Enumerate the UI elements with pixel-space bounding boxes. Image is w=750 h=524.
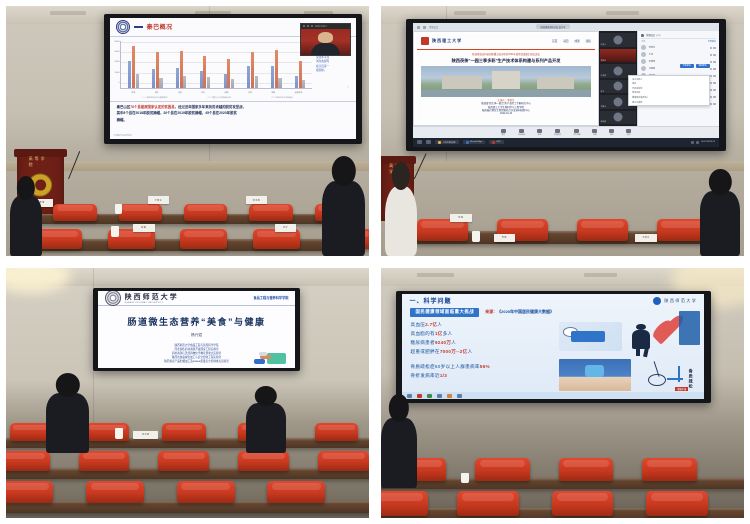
spacer xyxy=(410,357,553,361)
seat xyxy=(158,451,209,471)
slide-brand-row: 陕西理工大学 首页 项目 成果 团队 xyxy=(417,34,595,50)
presenter-name: 杨兴斌 xyxy=(104,328,290,344)
avatar xyxy=(613,97,622,106)
bar-2018年 xyxy=(247,66,250,88)
edge-icon[interactable] xyxy=(437,394,442,398)
slide-illustrations: 骨质疏松 健康中国 xyxy=(559,321,696,392)
participant-name: 王涛 xyxy=(649,53,653,56)
video-pip-window[interactable]: 视频会议窗口 xyxy=(300,23,351,57)
clock[interactable]: 14:26 2022/01/13 xyxy=(701,141,715,143)
meeting-client-window: 腾讯会议 陕西省茯茶研讨会 进行中 陕西理工大学 首 xyxy=(413,23,718,147)
record-icon xyxy=(592,129,597,133)
members-icon xyxy=(555,129,560,133)
bar-group xyxy=(271,42,281,88)
meeting-main: 陕西理工大学 首页 项目 成果 团队 陕西省农业科技创新重点攻关项 xyxy=(413,31,718,126)
x-tick-label: 陕西 xyxy=(225,91,229,94)
roster-buttons: 全体静音 解除静音 xyxy=(680,64,710,69)
toolbar-button-label: 共享屏幕 xyxy=(573,133,580,136)
attendee xyxy=(322,181,366,256)
participant-status-icons xyxy=(710,96,716,98)
slide-watermark: 中国秦巴山区研究院 xyxy=(114,134,132,137)
osteoporosis-label: 骨质疏松 xyxy=(688,369,694,389)
x-tick-label: 重庆 xyxy=(178,91,182,94)
x-group-captions: （一）秦巴区域人口与面积概况 （二）脱贫人口与贫困县分布 （三）区域经济与生态指… xyxy=(122,96,312,99)
building-shape xyxy=(537,77,574,89)
stat-label: 高血压 xyxy=(410,322,425,327)
seat xyxy=(642,458,696,481)
seat xyxy=(267,481,325,504)
bar-group xyxy=(200,42,210,88)
toolbar-button-label: 聊天 xyxy=(610,133,614,136)
collage-panel-bottom-right: 一、科学问题 陕西师范大学 国民健康领域面临重大挑战 来源：《2020年中国居民… xyxy=(375,262,750,524)
speaker-torso xyxy=(311,43,341,55)
participant-tile[interactable]: 赵老师 xyxy=(600,111,637,124)
mic-icon[interactable] xyxy=(710,89,712,91)
mic-icon[interactable] xyxy=(710,96,712,98)
bar-group xyxy=(152,42,162,88)
blood-pressure-illustration xyxy=(559,322,622,351)
app-title: 腾讯会议 xyxy=(429,25,438,29)
brand-lockup: 陕西师范大学 xyxy=(653,297,697,305)
participant-tile[interactable]: 李新生 xyxy=(600,49,637,62)
collage-panel-top-left: 秦巴概况 80000 xyxy=(0,0,375,262)
name-card-label: 刘洋 xyxy=(283,226,288,229)
block-blue xyxy=(254,359,265,364)
avatar xyxy=(641,45,646,50)
person-silhouette-icon xyxy=(631,324,653,357)
stat-unit: 人 xyxy=(451,340,456,345)
building-shape xyxy=(492,71,519,89)
stage-edge xyxy=(381,161,744,171)
slide-title-page: 陕西师范大学 SHAANXI NORMAL UNIVERSITY 食品工程与营养… xyxy=(98,291,296,368)
menu-icon[interactable] xyxy=(417,26,420,29)
participant-tile[interactable]: 主讲人 xyxy=(600,33,637,46)
stat-value: 7000万--2亿 xyxy=(440,349,468,354)
source-line: 来源：《2020年中国居民健康大数据》 xyxy=(485,309,554,315)
seat xyxy=(6,451,50,471)
attendee-head xyxy=(389,394,409,422)
building-shape xyxy=(442,76,483,88)
group-caption: （一）秦巴区域人口与面积概况 xyxy=(141,96,167,99)
participant-roster-panel: 管理成员（12） 全体 全部静音 李新生王涛张晓明刘建国赵红梅孙晓东周敏陈立会议… xyxy=(637,31,719,126)
name-card: 张志刚 xyxy=(133,431,158,440)
toolbar-button-共享屏幕[interactable]: 共享屏幕 xyxy=(573,129,580,137)
bar-2018年 xyxy=(200,71,203,87)
collage-panel-bottom-left: 陕西师范大学 SHAANXI NORMAL UNIVERSITY 食品工程与营养… xyxy=(0,262,375,524)
side-note: 级阶梯。 xyxy=(316,70,353,73)
chat-icon xyxy=(609,129,614,133)
camera-icon[interactable] xyxy=(713,47,715,49)
toolbar-button-label: 录制 xyxy=(593,133,597,136)
roster-action-label[interactable]: 全部静音 xyxy=(708,40,716,43)
side-note: 域生态屏障 xyxy=(316,61,353,64)
bar-2019年 xyxy=(251,52,254,88)
stat-line: 骨质疏松症60岁以上人群患病率56% xyxy=(410,363,553,370)
camera-icon[interactable] xyxy=(713,96,715,98)
name-card: 王晓东 xyxy=(635,234,657,243)
camera-icon[interactable] xyxy=(713,54,715,56)
os-taskbar[interactable] xyxy=(402,392,704,399)
bar-chart: 80000 60000 40000 20000 0 河南湖北重庆四川陕西甘肃湖南… xyxy=(110,37,316,101)
photo-collage: 秦巴概况 80000 xyxy=(0,0,750,524)
seat xyxy=(86,481,144,504)
meeting-status-chip: 陕西省茯茶研讨会 进行中 xyxy=(536,24,571,29)
photo-top-left: 秦巴概况 80000 xyxy=(6,6,369,256)
x-tick-label: 四川 xyxy=(201,91,205,94)
bar-2018年 xyxy=(295,76,298,87)
stat-value: 9240万 xyxy=(435,340,451,345)
university-seal-icon xyxy=(653,297,661,305)
seat xyxy=(475,458,529,481)
avatar xyxy=(613,82,622,91)
mic-icon[interactable] xyxy=(710,75,712,77)
led-screen: 秦巴概况 80000 xyxy=(104,14,362,144)
maximize-icon[interactable] xyxy=(307,25,309,27)
bar-group xyxy=(247,42,257,88)
cuff-shape xyxy=(571,331,605,342)
name-card-label: 张志刚 xyxy=(253,199,261,202)
paper-cup xyxy=(111,226,119,237)
photo-bottom-left: 陕西师范大学 SHAANXI NORMAL UNIVERSITY 食品工程与营养… xyxy=(6,268,369,518)
nav-item: 团队 xyxy=(586,39,591,43)
name-card-label: 赵敏 xyxy=(141,226,146,229)
attendee-head xyxy=(56,373,80,397)
name-card: 王晓东 xyxy=(148,196,170,204)
participant-tile-label: 主讲人 xyxy=(601,43,606,46)
name-card-label: 陈强 xyxy=(458,216,463,219)
footer-pre: 秦巴山区 xyxy=(117,105,131,109)
ceiling-panel xyxy=(584,273,617,277)
university-seal-icon xyxy=(116,20,130,34)
slide-science-question: 一、科学问题 陕西师范大学 国民健康领域面临重大挑战 来源：《2020年中国居民… xyxy=(402,294,704,399)
university-name: 陕西师范大学 SHAANXI NORMAL UNIVERSITY xyxy=(125,292,179,304)
name-card-label: 王晓东 xyxy=(155,199,163,202)
participant-name: 张晓明 xyxy=(649,60,655,63)
toolbar-button-开启视频[interactable]: 开启视频 xyxy=(518,129,525,137)
system-tray[interactable]: 14:26 2022/01/13 xyxy=(691,141,715,144)
context-menu[interactable]: 设为主持人改名开启等待室移出会议邀请参会成员加入观众与嘉宾 xyxy=(628,75,709,107)
participant-tile-label: 李新生 xyxy=(601,59,606,62)
department-name: 食品工程与营养科学学院 xyxy=(253,295,288,300)
avatar xyxy=(641,52,646,57)
y-tick-label: 20000 xyxy=(110,72,120,74)
footer-line: 摘帽。 xyxy=(117,118,349,123)
camera-icon[interactable] xyxy=(713,75,715,77)
attendee xyxy=(10,196,43,256)
attendee xyxy=(381,418,417,488)
attendee-head xyxy=(709,169,731,195)
stat-line: 超重或肥胖在7000万--2亿人 xyxy=(410,348,553,355)
name-card-label: 李建 xyxy=(502,236,507,239)
bar-group xyxy=(224,42,234,88)
slide-body: 高血压2.7亿人高血脂的有1亿多人糖尿病患者9240万人超重或肥胖在7000万-… xyxy=(402,319,704,392)
footer-line: 其中8个县在2018年脱贫摘帽，20个县在2019年脱贫摘帽，45个县在2020… xyxy=(117,111,349,116)
folder-icon[interactable] xyxy=(447,394,452,398)
avatar xyxy=(613,66,622,75)
participant-status-icons xyxy=(710,89,716,91)
security-icon xyxy=(537,129,542,133)
stats-list: 高血压2.7亿人高血脂的有1亿多人糖尿病患者9240万人超重或肥胖在7000万-… xyxy=(410,321,553,392)
slide-title: 秦巴概况 xyxy=(147,22,173,31)
bar-2018年 xyxy=(176,68,179,87)
folder-icon xyxy=(438,141,441,144)
seat xyxy=(162,423,206,441)
attendee-head xyxy=(254,386,276,406)
avatar xyxy=(641,66,646,71)
attendee xyxy=(46,393,90,453)
camera-icon[interactable] xyxy=(713,103,715,105)
stat-line: 糖尿病患者9240万人 xyxy=(410,339,553,346)
group-caption: （二）脱贫人口与贫困县分布 xyxy=(206,96,231,99)
speaker-head xyxy=(318,32,334,43)
bar-2019年 xyxy=(227,59,230,87)
bar-2019年 xyxy=(132,46,135,88)
slide-header: 陕西师范大学 SHAANXI NORMAL UNIVERSITY 食品工程与营养… xyxy=(98,291,296,307)
bar-2019年 xyxy=(203,56,206,88)
bar-2019年 xyxy=(180,51,183,88)
network-icon[interactable] xyxy=(691,141,694,144)
seat xyxy=(35,229,82,249)
nav-item: 成果 xyxy=(575,39,580,43)
attendee-head xyxy=(392,162,410,190)
participant-name: 刘建国 xyxy=(649,67,655,70)
title-rule xyxy=(134,26,143,28)
participant-status-icons xyxy=(710,68,716,70)
attendee xyxy=(246,403,286,453)
seat xyxy=(559,458,613,481)
seat xyxy=(646,491,708,516)
ceiling-panel xyxy=(454,11,487,15)
mic-icon[interactable] xyxy=(710,68,712,70)
name-card: 张志刚 xyxy=(246,196,268,204)
toolbar-button-管理成员[interactable]: 管理成员 xyxy=(554,129,561,137)
name-card: 刘洋 xyxy=(275,224,297,232)
bar-2020年 xyxy=(278,78,281,88)
x-tick-label: 湖北 xyxy=(155,91,159,94)
participant-status-icons xyxy=(710,82,716,84)
stat-label: 高血脂的有 xyxy=(410,331,434,336)
stat-unit: 人 xyxy=(437,322,442,327)
bar-2020年 xyxy=(136,74,139,88)
seat xyxy=(6,481,53,504)
participant-tile-label: 赵老师 xyxy=(601,120,606,123)
screen-content: 秦巴概况 80000 xyxy=(110,18,356,140)
meeting-toolbar[interactable]: 静音开启视频安全管理成员共享屏幕录制聊天更多 xyxy=(413,126,718,138)
os-taskbar[interactable]: 文件资源管理器 Microsoft Edge WPS xyxy=(413,138,718,147)
search-icon[interactable] xyxy=(426,140,431,144)
slide-footer-text: 秦巴山区76个县被原国家认定的贫困县，经过近年国家多年来扶贫卓越的脱贫攻坚战， … xyxy=(110,101,356,140)
camera-icon[interactable] xyxy=(713,82,715,84)
nav-item: 首页 xyxy=(552,39,557,43)
y-tick-label: 80000 xyxy=(110,41,120,43)
side-panel-bar xyxy=(679,311,700,345)
toolbar-button-安全[interactable]: 安全 xyxy=(537,129,542,137)
mute-all-button[interactable]: 全体静音 xyxy=(680,64,694,69)
block-grey xyxy=(259,352,267,356)
name-card: 赵敏 xyxy=(133,224,155,232)
seat xyxy=(177,481,235,504)
seat xyxy=(79,451,130,471)
toolbar-button-聊天[interactable]: 聊天 xyxy=(609,129,614,137)
y-tick-label: 60000 xyxy=(110,51,120,53)
roster-title: 管理成员（12） xyxy=(646,33,662,37)
mic-icon[interactable] xyxy=(710,47,712,49)
paper-cup xyxy=(115,204,122,214)
x-axis xyxy=(120,88,312,89)
name-card-label: 王晓东 xyxy=(642,236,650,239)
minimize-icon[interactable] xyxy=(303,25,305,27)
seat xyxy=(315,423,359,441)
toolbar-button-label: 管理成员 xyxy=(554,133,561,136)
footer-line: 秦巴山区76个县被原国家认定的贫困县，经过近年国家多年来扶贫卓越的脱贫攻坚战， xyxy=(117,105,349,110)
list-item[interactable]: 王涛 xyxy=(641,51,716,58)
photo-top-right: 腾讯会议 陕西省茯茶研讨会 进行中 陕西理工大学 首 xyxy=(381,6,744,256)
back-icon[interactable] xyxy=(423,26,426,29)
ceiling-panel xyxy=(606,11,639,15)
camera-icon[interactable] xyxy=(713,61,715,63)
stat-label: 骨折发病率近 xyxy=(410,373,439,378)
participant-status-icons xyxy=(710,61,716,63)
pip-title: 视频会议窗口 xyxy=(315,25,327,28)
attendee-head xyxy=(331,156,355,186)
camera-icon xyxy=(519,129,524,133)
bar-2020年 xyxy=(207,77,210,88)
bar-2018年 xyxy=(271,66,274,88)
name-card-label: 张志刚 xyxy=(142,433,150,436)
status-badge: 健康中国 xyxy=(675,387,688,392)
volume-icon[interactable] xyxy=(696,141,699,144)
participant-status-icons xyxy=(710,47,716,49)
paper-cup xyxy=(115,428,123,439)
seat xyxy=(253,229,300,249)
start-icon[interactable] xyxy=(417,140,422,144)
x-tick-label: 湖南 xyxy=(271,91,275,94)
clinic-photo xyxy=(559,359,630,390)
taskbar-app[interactable]: 文件资源管理器 xyxy=(435,140,458,144)
collage-panel-top-right: 腾讯会议 陕西省茯茶研讨会 进行中 陕西理工大学 首 xyxy=(375,0,750,262)
shared-screen-stage[interactable]: 陕西理工大学 首页 项目 成果 团队 陕西省农业科技创新重点攻关项 xyxy=(413,31,598,126)
toolbar-button-label: 静音 xyxy=(502,133,506,136)
stat-line: 高血脂的有1亿多人 xyxy=(410,330,553,337)
slide-subheader: 国民健康领域面临重大挑战 来源：《2020年中国居民健康大数据》 xyxy=(402,308,704,319)
slide-meta: 汇报人：李新生 陕西省“四主体一联合”茶产业院士专家研究中心 陕西理工大学生物科… xyxy=(417,98,595,124)
group-caption: （三）区域经济与生态指标 xyxy=(270,96,293,99)
seat xyxy=(457,491,519,516)
lectern-mark: 高等学院 xyxy=(29,156,53,168)
participant-name: 李新生 xyxy=(649,46,655,49)
bar-group xyxy=(128,42,138,88)
seat xyxy=(552,491,614,516)
photo-bottom-right: 一、科学问题 陕西师范大学 国民健康领域面临重大挑战 来源：《2020年中国居民… xyxy=(381,268,744,518)
participant-tile-label: 王老师 xyxy=(601,74,606,77)
mic-icon[interactable] xyxy=(710,103,712,105)
bar-2019年 xyxy=(275,50,278,88)
slide-title: 肠道微生态营养“美食”与健康 xyxy=(104,315,290,328)
source-label: 来源： xyxy=(485,309,497,314)
toolbar-button-静音[interactable]: 静音 xyxy=(501,129,506,137)
edge-icon xyxy=(466,141,469,144)
toolbar-button-更多[interactable]: 更多 xyxy=(626,129,631,137)
challenge-chip: 国民健康领域面临重大挑战 xyxy=(410,308,479,317)
y-tick-label: 0 xyxy=(110,82,120,84)
menu-item[interactable]: 观众与嘉宾 xyxy=(629,100,708,105)
seat xyxy=(119,204,163,222)
members-icon xyxy=(641,34,644,37)
ceiling-panel xyxy=(417,273,453,277)
participant-status-icons xyxy=(710,54,716,56)
participant-status-icons xyxy=(710,75,716,77)
participant-status-icons xyxy=(710,103,716,105)
wechat-icon[interactable] xyxy=(427,394,432,398)
toolbar-button-录制[interactable]: 录制 xyxy=(592,129,597,137)
mic-icon[interactable] xyxy=(710,54,712,56)
room-ceiling xyxy=(6,268,369,286)
shared-slide: 陕西理工大学 首页 项目 成果 团队 陕西省农业科技创新重点攻关项 xyxy=(417,34,595,124)
stat-unit: 人 xyxy=(468,349,473,354)
seat xyxy=(238,451,289,471)
bar-group xyxy=(176,42,186,88)
y-tick-label: 40000 xyxy=(110,61,120,63)
close-icon[interactable] xyxy=(311,25,313,27)
mic-icon[interactable] xyxy=(710,82,712,84)
paper-cup xyxy=(461,473,469,483)
start-icon[interactable] xyxy=(407,394,412,398)
screen-content: 一、科学问题 陕西师范大学 国民健康领域面临重大挑战 来源：《2020年中国居民… xyxy=(402,294,704,399)
attendee xyxy=(385,186,418,256)
participant-tile-label: 刘博士 xyxy=(601,105,606,108)
stat-label: 骨质疏松症60岁以上人群患病率 xyxy=(410,364,479,369)
footer-post: ，经过近年国家多年来扶贫卓越的脱贫攻坚战， xyxy=(175,105,246,109)
taskbar-app[interactable]: Microsoft Edge xyxy=(463,140,485,144)
bar-2019年 xyxy=(299,61,302,88)
taskbar-app[interactable]: WPS xyxy=(489,140,504,144)
list-item[interactable]: 李新生 xyxy=(641,44,716,51)
wps-icon[interactable] xyxy=(417,394,422,398)
x-tick-label: 河南 xyxy=(131,91,135,94)
footer-highlight: 76个县被原国家认定的贫困县 xyxy=(130,105,174,109)
stat-label: 超重或肥胖在 xyxy=(410,349,439,354)
participant-tile-label: 张工 xyxy=(601,90,605,93)
bar-2020年 xyxy=(183,76,186,88)
app-icon[interactable] xyxy=(457,394,462,398)
seat xyxy=(53,204,97,222)
water-shape xyxy=(421,90,591,97)
bar-2020年 xyxy=(302,80,305,88)
unmute-all-button[interactable]: 解除静音 xyxy=(696,64,710,69)
bar-2020年 xyxy=(231,79,234,87)
toolbar-button-label: 开启视频 xyxy=(518,133,525,136)
avatar xyxy=(613,112,622,121)
share-icon xyxy=(574,129,579,133)
stat-unit: 多人 xyxy=(443,331,453,336)
university-seal-icon xyxy=(421,37,429,45)
mic-icon[interactable] xyxy=(710,61,712,63)
camera-icon[interactable] xyxy=(713,68,715,70)
stat-line: 骨折发病率近1/3 xyxy=(410,372,553,379)
mask-shape xyxy=(585,365,604,378)
attendee-head xyxy=(17,176,35,200)
campus-photo xyxy=(421,66,591,97)
bar-2018年 xyxy=(128,61,131,88)
seat xyxy=(318,451,369,471)
seat xyxy=(249,204,293,222)
x-tick-label: 甘肃 xyxy=(248,91,252,94)
toolbar-button-label: 安全 xyxy=(538,133,542,136)
taskbar-app-label: WPS xyxy=(497,141,501,143)
camera-icon[interactable] xyxy=(713,89,715,91)
section-title: 一、科学问题 xyxy=(409,296,451,305)
nav-item: 项目 xyxy=(563,39,568,43)
